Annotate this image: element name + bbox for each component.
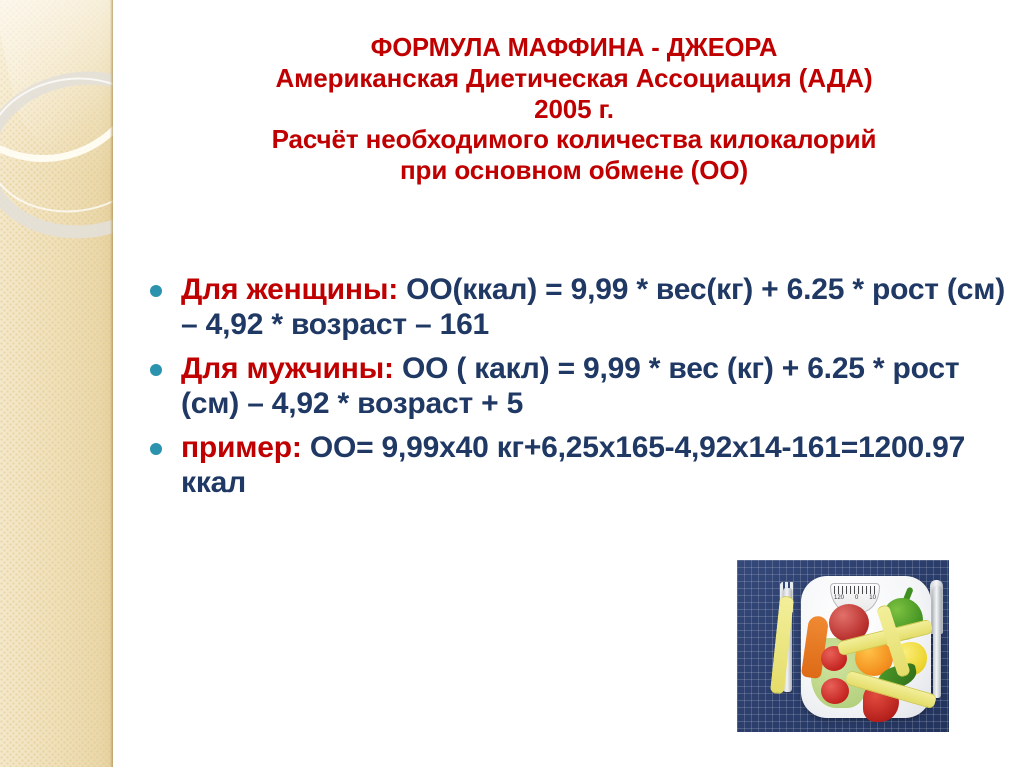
band-edge-line	[110, 0, 113, 767]
scale-ticks	[834, 586, 876, 594]
title-line-5: при основном обмене (ОО)	[132, 155, 1016, 186]
formula-bullet-list: Для женщины: ОО(ккал) = 9,99 * вес(кг) +…	[140, 272, 1020, 508]
decorative-ring-top-shadow	[0, 0, 113, 179]
bullet-dot-icon	[150, 364, 162, 376]
bullet-dot-icon	[150, 443, 162, 455]
title-line-3: 2005 г.	[132, 94, 1016, 125]
decorative-side-band	[0, 0, 113, 767]
list-item: пример: ОО= 9,99х40 кг+6,25х165-4,92х14-…	[140, 430, 1020, 501]
band-tone-overlay	[0, 0, 113, 175]
title-line-2: Американская Диетическая Ассоциация (АДА…	[132, 63, 1016, 94]
list-item: Для женщины: ОО(ккал) = 9,99 * вес(кг) +…	[140, 272, 1020, 343]
bullet-lead-label: Для мужчины:	[181, 352, 394, 385]
title-line-4: Расчёт необходимого количества килокалор…	[132, 124, 1016, 155]
title-line-1: ФОРМУЛА МАФФИНА - ДЖЕОРА	[132, 33, 1016, 63]
slide-canvas: ФОРМУЛА МАФФИНА - ДЖЕОРА Американская Ди…	[0, 0, 1024, 767]
bullet-lead-label: пример:	[181, 431, 302, 464]
placemat: 120 0 10	[737, 560, 949, 732]
scale-numbers: 120 0 10	[834, 595, 876, 604]
food-plate-photo: 120 0 10	[712, 551, 976, 741]
band-light-wash	[0, 0, 113, 169]
scale-number-center: 0	[855, 595, 858, 604]
decorative-ring-bottom-inner	[0, 67, 113, 224]
bullet-lead-label: Для женщины:	[181, 273, 398, 306]
list-item: Для мужчины: ОО ( какл) = 9,99 * вес (кг…	[140, 351, 1020, 422]
bullet-dot-icon	[150, 285, 162, 297]
slide-title: ФОРМУЛА МАФФИНА - ДЖЕОРА Американская Ди…	[132, 33, 1016, 186]
decorative-ring-bottom	[0, 58, 113, 251]
decorative-ring-top	[0, 0, 113, 184]
knife-handle-icon	[933, 586, 941, 698]
scale-number-left: 120	[834, 595, 844, 604]
tomato-lower	[821, 678, 849, 704]
scale-number-right: 10	[869, 595, 876, 604]
